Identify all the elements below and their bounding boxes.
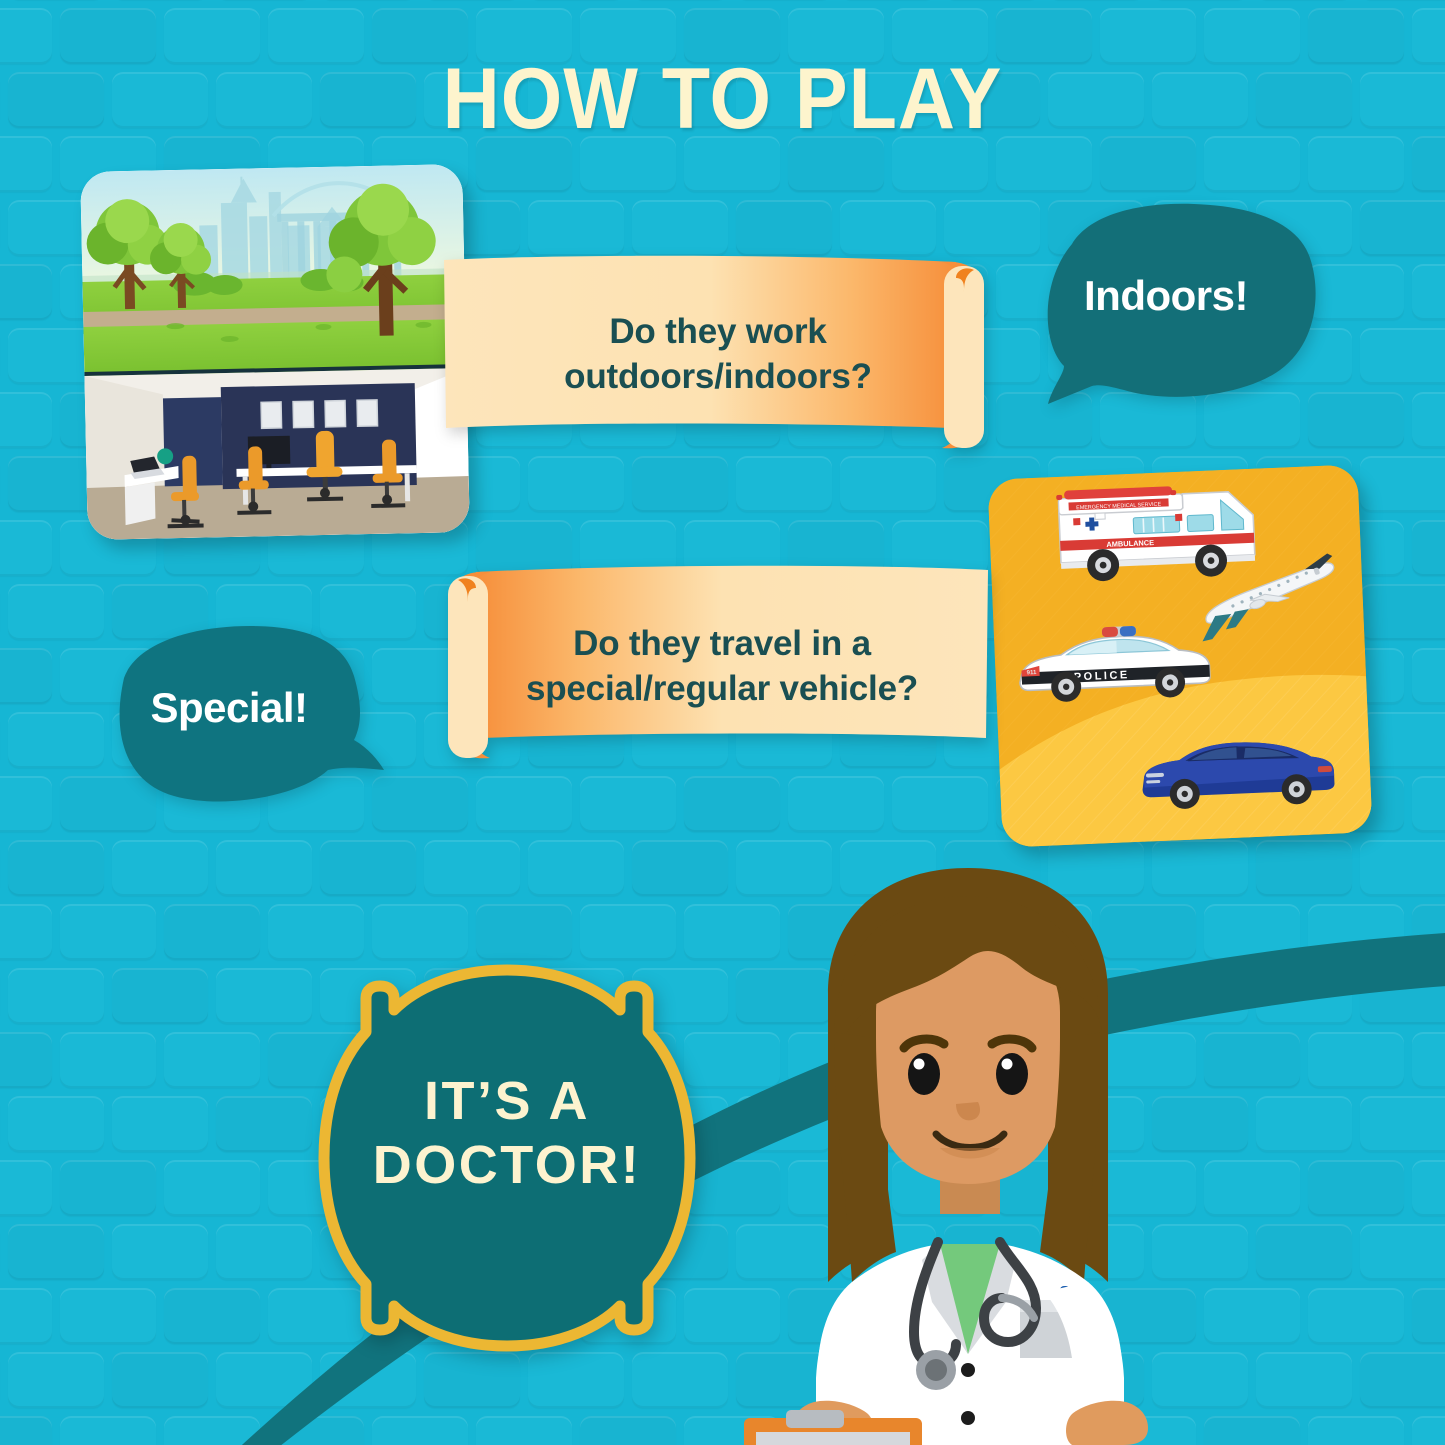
reveal-line-1: IT’S A xyxy=(312,1070,702,1134)
answer-bubble-indoors-label: Indoors! xyxy=(1030,270,1302,322)
answer-bubble-special: Special! xyxy=(104,620,384,820)
workplace-card-art xyxy=(80,164,470,540)
workplace-card[interactable] xyxy=(80,164,470,540)
question-1-line-1: Do they work xyxy=(609,309,826,355)
answer-bubble-special-label: Special! xyxy=(114,682,344,734)
vehicles-card-art: EMERGENCY MEDICAL SERVICE AMBULANCE xyxy=(987,464,1372,847)
reveal-badge: IT’S A DOCTOR! xyxy=(312,962,702,1354)
poster-stage: HOW TO PLAY xyxy=(0,0,1445,1445)
reveal-badge-label: IT’S A DOCTOR! xyxy=(312,1070,702,1197)
vehicles-card[interactable]: EMERGENCY MEDICAL SERVICE AMBULANCE xyxy=(987,464,1372,847)
question-scroll-2-text: Do they travel in a special/regular vehi… xyxy=(492,574,952,758)
page-title: HOW TO PLAY xyxy=(58,50,1387,149)
question-scroll-vehicle: Do they travel in a special/regular vehi… xyxy=(398,562,988,768)
question-1-line-2: outdoors/indoors? xyxy=(564,354,872,400)
doctor-illustration xyxy=(700,862,1260,1445)
question-scroll-indoors-outdoors: Do they work outdoors/indoors? xyxy=(444,252,1014,458)
doctor-character xyxy=(700,862,1260,1445)
question-2-line-1: Do they travel in a xyxy=(573,621,871,667)
police-label: POLICE xyxy=(1074,669,1130,683)
reveal-line-2: DOCTOR! xyxy=(312,1134,702,1198)
answer-bubble-indoors: Indoors! xyxy=(1030,198,1330,418)
question-scroll-1-text: Do they work outdoors/indoors? xyxy=(496,262,940,446)
question-2-line-2: special/regular vehicle? xyxy=(526,666,918,712)
svg-text:911: 911 xyxy=(1027,670,1038,676)
